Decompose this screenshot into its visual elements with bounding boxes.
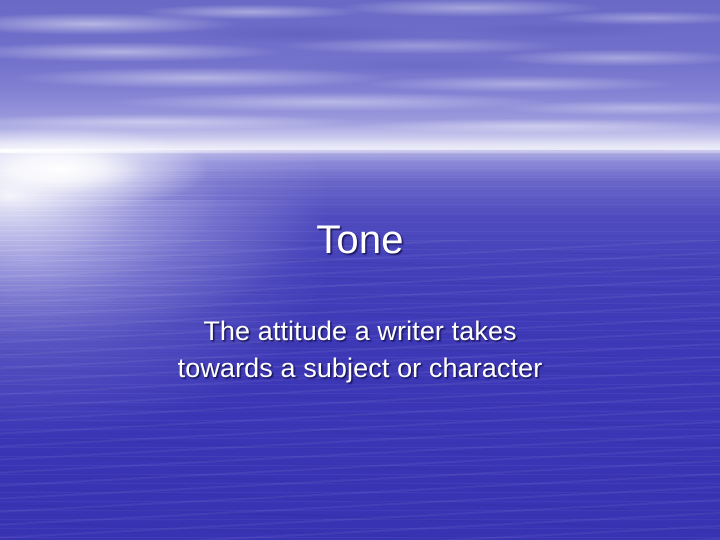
slide-subtitle-line-2: towards a subject or character [0,350,720,387]
slide-text-layer: Tone The attitude a writer takes towards… [0,0,720,540]
slide-title: Tone [0,216,720,264]
slide-subtitle-line-1: The attitude a writer takes [0,313,720,350]
slide-subtitle: The attitude a writer takes towards a su… [0,313,720,387]
slide: Tone The attitude a writer takes towards… [0,0,720,540]
